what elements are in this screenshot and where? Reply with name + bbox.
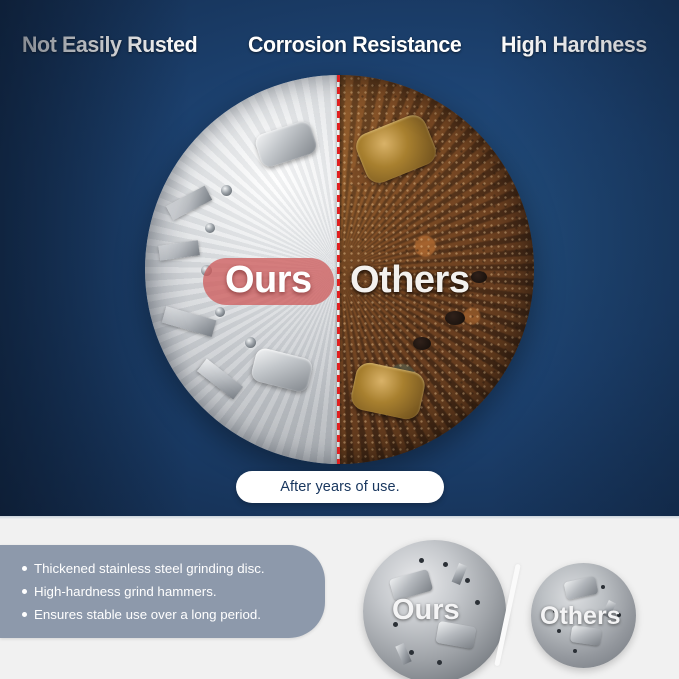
product-hole bbox=[409, 650, 414, 655]
list-item: Ensures stable use over a long period. bbox=[22, 603, 325, 626]
feature-list-box: Thickened stainless steel grinding disc.… bbox=[0, 545, 325, 638]
bullet-icon bbox=[22, 589, 27, 594]
bottom-section: Thickened stainless steel grinding disc.… bbox=[0, 516, 679, 679]
bullet-icon bbox=[22, 612, 27, 617]
hero-section: Not Easily Rusted Corrosion Resistance H… bbox=[0, 0, 679, 516]
red-dashed-divider bbox=[337, 75, 340, 464]
ours-label-pill: Ours bbox=[203, 258, 334, 305]
list-item: Thickened stainless steel grinding disc. bbox=[22, 557, 325, 580]
product-hole bbox=[573, 649, 577, 653]
product-comparison-infographic: Not Easily Rusted Corrosion Resistance H… bbox=[0, 0, 679, 679]
product-hole bbox=[437, 660, 442, 665]
ours-label-text: Ours bbox=[225, 259, 312, 301]
feature-text: High-hardness grind hammers. bbox=[34, 584, 217, 599]
headline-high-hardness: High Hardness bbox=[501, 32, 647, 58]
bullet-icon bbox=[22, 566, 27, 571]
headline-row: Not Easily Rusted Corrosion Resistance H… bbox=[0, 29, 679, 61]
feature-text: Ensures stable use over a long period. bbox=[34, 607, 261, 622]
after-years-caption-pill: After years of use. bbox=[236, 471, 444, 503]
others-label: Others bbox=[344, 258, 475, 305]
product-label-ours: Ours bbox=[392, 594, 460, 627]
headline-corrosion-resistance: Corrosion Resistance bbox=[248, 32, 461, 58]
product-hole bbox=[419, 558, 424, 563]
product-hole bbox=[475, 600, 480, 605]
others-label-text: Others bbox=[350, 259, 469, 301]
list-item: High-hardness grind hammers. bbox=[22, 580, 325, 603]
after-years-caption-text: After years of use. bbox=[280, 479, 400, 495]
feature-list: Thickened stainless steel grinding disc.… bbox=[0, 545, 325, 626]
product-hole bbox=[443, 562, 448, 567]
product-hole bbox=[601, 585, 605, 589]
product-hole bbox=[465, 578, 470, 583]
section-divider bbox=[0, 516, 679, 519]
product-label-others: Others bbox=[540, 602, 621, 631]
headline-not-easily-rusted: Not Easily Rusted bbox=[22, 32, 197, 58]
product-bolt bbox=[563, 576, 598, 600]
feature-text: Thickened stainless steel grinding disc. bbox=[34, 561, 265, 576]
